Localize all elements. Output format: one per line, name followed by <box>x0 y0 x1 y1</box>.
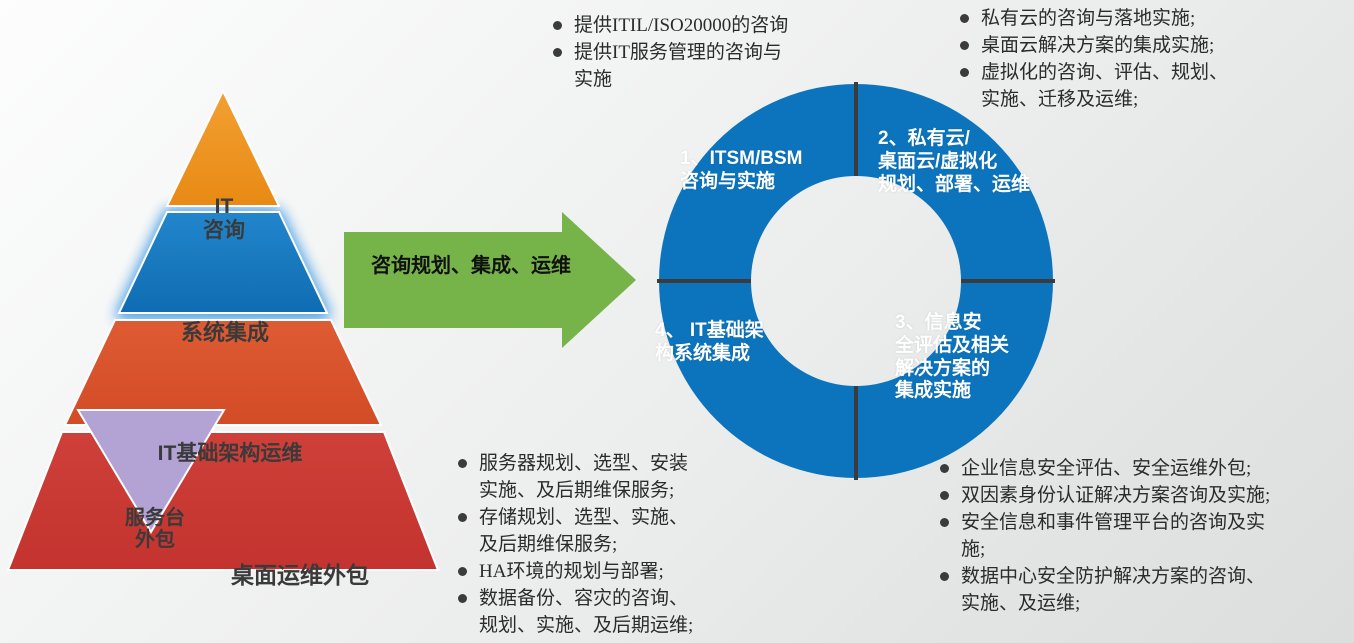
list-item: 提供ITIL/ISO20000的咨询 <box>553 12 883 39</box>
bullet-dot-icon <box>960 41 969 50</box>
pyramid-label-it-consulting: IT 咨询 <box>160 195 288 242</box>
bullet-list-top-right: 私有云的咨询与落地实施; 桌面云解决方案的集成实施; 虚拟化的咨询、评估、规划、… <box>960 5 1340 113</box>
bullet-dot-icon <box>940 572 949 581</box>
list-item: 私有云的咨询与落地实施; <box>960 5 1340 32</box>
bullet-dot-icon <box>940 518 949 527</box>
bullet-dot-icon <box>960 68 969 77</box>
bullet-dot-icon <box>458 594 467 603</box>
bullet-text: 企业信息安全评估、安全运维外包; <box>961 455 1251 482</box>
bullet-text: 虚拟化的咨询、评估、规划、 实施、迁移及运维; <box>981 59 1228 113</box>
pyramid-label-system-integration: 系统集成 <box>130 321 320 346</box>
bullet-text: 存储规划、选型、实施、 及后期维保服务; <box>479 504 688 558</box>
process-arrow[interactable] <box>340 210 640 350</box>
bullet-dot-icon <box>940 491 949 500</box>
bullet-text: 数据备份、容灾的咨询、 规划、实施、及后期运维; <box>479 585 693 639</box>
bullet-text: 数据中心安全防护解决方案的咨询、 实施、及运维; <box>961 563 1265 617</box>
donut-label-q3: 3、信息安 全评估及相关 解决方案的 集成实施 <box>895 312 1060 403</box>
list-item: HA环境的规划与部署; <box>458 558 798 585</box>
list-item: 数据备份、容灾的咨询、 规划、实施、及后期运维; <box>458 585 798 639</box>
list-item: 提供IT服务管理的咨询与 实施 <box>553 39 883 93</box>
list-item: 双因素身份认证解决方案咨询及实施; <box>940 482 1340 509</box>
bullet-dot-icon <box>458 513 467 522</box>
bullet-text: 私有云的咨询与落地实施; <box>981 5 1195 32</box>
pyramid-label-desktop-ops: 桌面运维外包 <box>190 563 410 589</box>
list-item: 数据中心安全防护解决方案的咨询、 实施、及运维; <box>940 563 1340 617</box>
bullet-text: 双因素身份认证解决方案咨询及实施; <box>961 482 1270 509</box>
bullet-dot-icon <box>458 567 467 576</box>
list-item: 安全信息和事件管理平台的咨询及实 施; <box>940 509 1340 563</box>
bullet-dot-icon <box>960 14 969 23</box>
list-item: 虚拟化的咨询、评估、规划、 实施、迁移及运维; <box>960 59 1340 113</box>
bullet-text: 安全信息和事件管理平台的咨询及实 施; <box>961 509 1265 563</box>
donut-label-q4: 4、 IT基础架 构系统集成 <box>655 320 845 366</box>
bullet-dot-icon <box>458 459 467 468</box>
bullet-dot-icon <box>553 21 562 30</box>
bullet-text: 桌面云解决方案的集成实施; <box>981 32 1214 59</box>
list-item: 桌面云解决方案的集成实施; <box>960 32 1340 59</box>
list-item: 服务器规划、选型、安装 实施、及后期维保服务; <box>458 450 798 504</box>
process-arrow-label: 咨询规划、集成、运维 <box>356 249 586 278</box>
pyramid-label-infrastructure-ops: IT基础架构运维 <box>115 442 345 466</box>
bullet-dot-icon <box>940 464 949 473</box>
slide-canvas: IT 咨询 系统集成 IT基础架构运维 桌面运维外包 服务台 外包 咨询规划、集… <box>0 0 1354 643</box>
pyramid-label-service-desk: 服务台 外包 <box>100 507 210 552</box>
bullet-list-top-left: 提供ITIL/ISO20000的咨询 提供IT服务管理的咨询与 实施 <box>553 12 883 93</box>
process-arrow-svg <box>340 210 640 350</box>
donut-segment-q4[interactable] <box>659 281 856 478</box>
list-item: 企业信息安全评估、安全运维外包; <box>940 455 1340 482</box>
donut-label-q1: 1、ITSM/BSM 咨询与实施 <box>680 148 880 194</box>
bullet-text: 提供ITIL/ISO20000的咨询 <box>574 12 788 39</box>
donut-label-q2: 2、私有云/ 桌面云/虚拟化 规划、部署、运维 <box>878 128 1068 196</box>
bullet-dot-icon <box>553 48 562 57</box>
bullet-text: 服务器规划、选型、安装 实施、及后期维保服务; <box>479 450 688 504</box>
bullet-text: HA环境的规划与部署; <box>479 558 664 585</box>
bullet-list-bottom-right: 企业信息安全评估、安全运维外包; 双因素身份认证解决方案咨询及实施; 安全信息和… <box>940 455 1340 617</box>
arrow-shape <box>344 212 636 348</box>
list-item: 存储规划、选型、实施、 及后期维保服务; <box>458 504 798 558</box>
bullet-list-bottom-left: 服务器规划、选型、安装 实施、及后期维保服务; 存储规划、选型、实施、 及后期维… <box>458 450 798 639</box>
bullet-text: 提供IT服务管理的咨询与 实施 <box>574 39 782 93</box>
pyramid-tier-it-consulting[interactable] <box>167 91 279 206</box>
